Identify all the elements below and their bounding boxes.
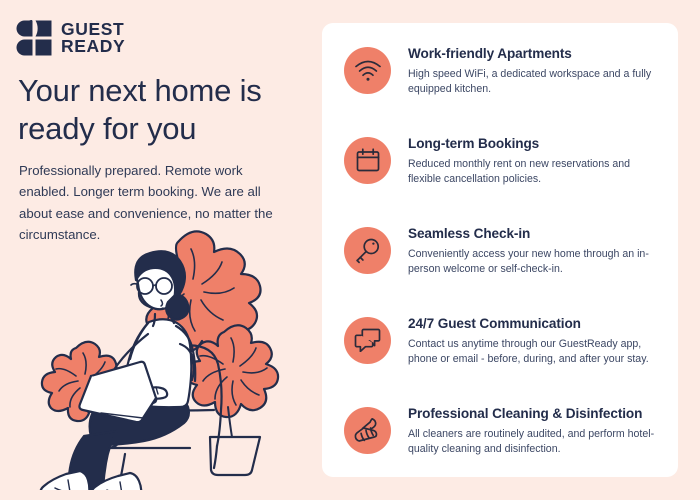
feature-text: Professional Cleaning & Disinfection All… (408, 405, 660, 457)
feature-text: Work-friendly Apartments High speed WiFi… (408, 45, 660, 97)
features-card: Work-friendly Apartments High speed WiFi… (322, 23, 678, 477)
brand-line-2: READY (61, 38, 125, 55)
woman-with-laptop-in-armchair-with-plants-illustration (28, 222, 322, 490)
feature-item-guest-communication[interactable]: 24/7 Guest Communication Contact us anyt… (344, 315, 662, 367)
feature-title: Work-friendly Apartments (408, 46, 660, 63)
calendar-icon (344, 137, 391, 184)
guestready-logo-icon (16, 20, 52, 56)
feature-description: Contact us anytime through our GuestRead… (408, 337, 660, 367)
feature-item-long-term-bookings[interactable]: Long-term Bookings Reduced monthly rent … (344, 135, 662, 187)
feature-text: Seamless Check-in Conveniently access yo… (408, 225, 660, 277)
page-title: Your next home is ready for you (18, 72, 308, 148)
feature-item-work-friendly-apartments[interactable]: Work-friendly Apartments High speed WiFi… (344, 45, 662, 97)
feature-title: 24/7 Guest Communication (408, 316, 660, 333)
feature-text: 24/7 Guest Communication Contact us anyt… (408, 315, 660, 367)
wifi-icon (344, 47, 391, 94)
chat-bubbles-icon (344, 317, 391, 364)
feature-title: Long-term Bookings (408, 136, 660, 153)
broom-icon (344, 407, 391, 454)
feature-description: High speed WiFi, a dedicated workspace a… (408, 67, 660, 97)
feature-description: Reduced monthly rent on new reservations… (408, 157, 660, 187)
key-icon (344, 227, 391, 274)
feature-description: All cleaners are routinely audited, and … (408, 427, 660, 457)
feature-item-seamless-check-in[interactable]: Seamless Check-in Conveniently access yo… (344, 225, 662, 277)
feature-text: Long-term Bookings Reduced monthly rent … (408, 135, 660, 187)
feature-item-professional-cleaning[interactable]: Professional Cleaning & Disinfection All… (344, 405, 662, 457)
brand-wordmark: GUEST READY (61, 21, 125, 55)
feature-title: Seamless Check-in (408, 226, 660, 243)
hero-panel: GUEST READY Your next home is ready for … (0, 0, 322, 500)
feature-description: Conveniently access your new home throug… (408, 247, 660, 277)
feature-title: Professional Cleaning & Disinfection (408, 406, 660, 423)
brand-logo[interactable]: GUEST READY (16, 20, 125, 56)
